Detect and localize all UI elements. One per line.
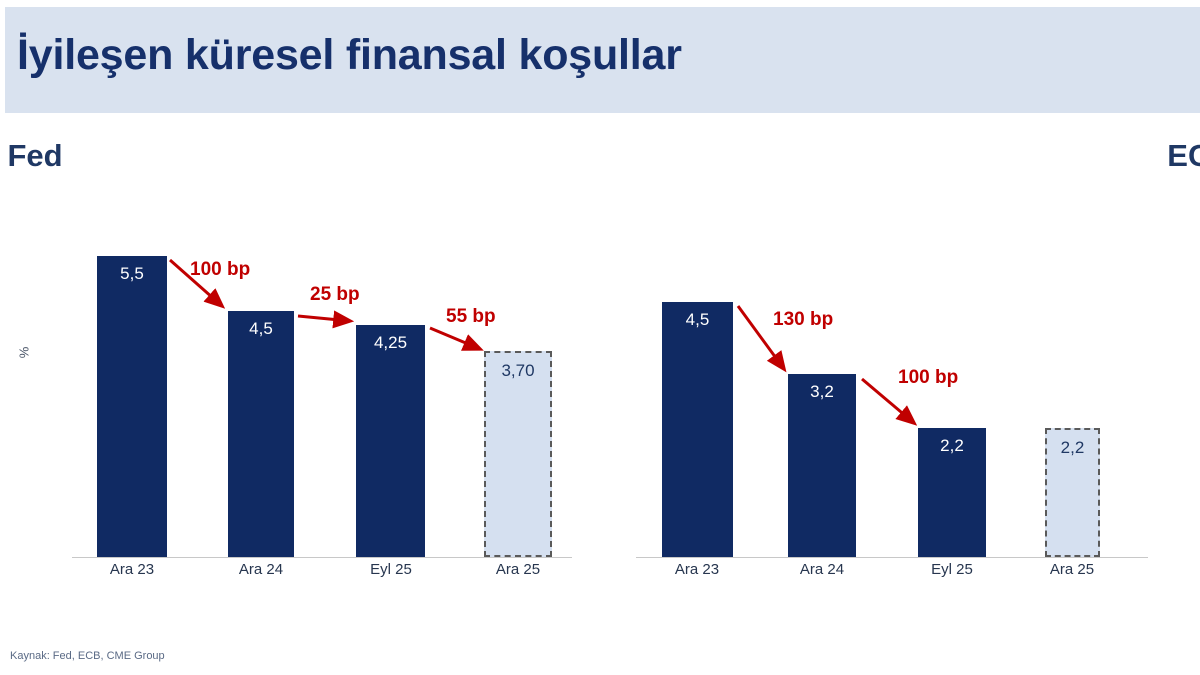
page-title: İyileşen küresel finansal koşullar <box>17 31 682 80</box>
x-axis-line-fed <box>72 557 572 558</box>
annotation-label-ecb-1: 130 bp <box>773 309 833 331</box>
x-axis-line-ecb <box>636 557 1148 558</box>
bar-value-label: 3,70 <box>486 361 550 381</box>
x-label-ecb-2: Eyl 25 <box>902 561 1002 578</box>
bar-value-label: 5,5 <box>97 264 167 284</box>
plot-area-fed: 5,5 4,5 4,25 3,70 100 bp 25 bp 55 <box>0 113 600 675</box>
x-label-ecb-0: Ara 23 <box>647 561 747 578</box>
bar-value-label: 2,2 <box>1047 438 1098 458</box>
x-label-ecb-1: Ara 24 <box>772 561 872 578</box>
x-label-fed-3: Ara 25 <box>468 561 568 578</box>
x-label-fed-1: Ara 24 <box>211 561 311 578</box>
chart-panel-fed: Fed 5,5 4,5 4,25 3,70 <box>0 113 600 675</box>
annotation-label-fed-3: 55 bp <box>446 306 496 328</box>
bar-value-label: 3,2 <box>788 382 856 402</box>
bar-value-label: 4,25 <box>356 333 425 353</box>
bar-ecb-eyl-25[interactable]: 2,2 <box>918 428 986 557</box>
bar-ecb-ara-25-forecast[interactable]: 2,2 <box>1045 428 1100 557</box>
annotation-label-fed-1: 100 bp <box>190 259 250 281</box>
x-label-ecb-3: Ara 25 <box>1022 561 1122 578</box>
bar-value-label: 4,5 <box>662 310 733 330</box>
source-note: Kaynak: Fed, ECB, CME Group <box>10 650 165 662</box>
chart-panel-ecb: ECB 4,5 3,2 2,2 2,2 <box>600 113 1200 675</box>
bar-value-label: 2,2 <box>918 436 986 456</box>
bar-fed-eyl-25[interactable]: 4,25 <box>356 325 425 557</box>
x-label-fed-2: Eyl 25 <box>341 561 441 578</box>
bar-ecb-ara-23[interactable]: 4,5 <box>662 302 733 557</box>
bar-fed-ara-23[interactable]: 5,5 <box>97 256 167 557</box>
annotation-label-fed-2: 25 bp <box>310 284 360 306</box>
annotation-label-ecb-2: 100 bp <box>898 367 958 389</box>
bar-fed-ara-24[interactable]: 4,5 <box>228 311 294 557</box>
plot-area-ecb: 4,5 3,2 2,2 2,2 130 bp 100 bp Ara 2 <box>600 113 1200 675</box>
x-label-fed-0: Ara 23 <box>82 561 182 578</box>
bar-fed-ara-25-forecast[interactable]: 3,70 <box>484 351 552 557</box>
bar-value-label: 4,5 <box>228 319 294 339</box>
bar-ecb-ara-24[interactable]: 3,2 <box>788 374 856 557</box>
title-banner: İyileşen küresel finansal koşullar <box>5 7 1200 113</box>
